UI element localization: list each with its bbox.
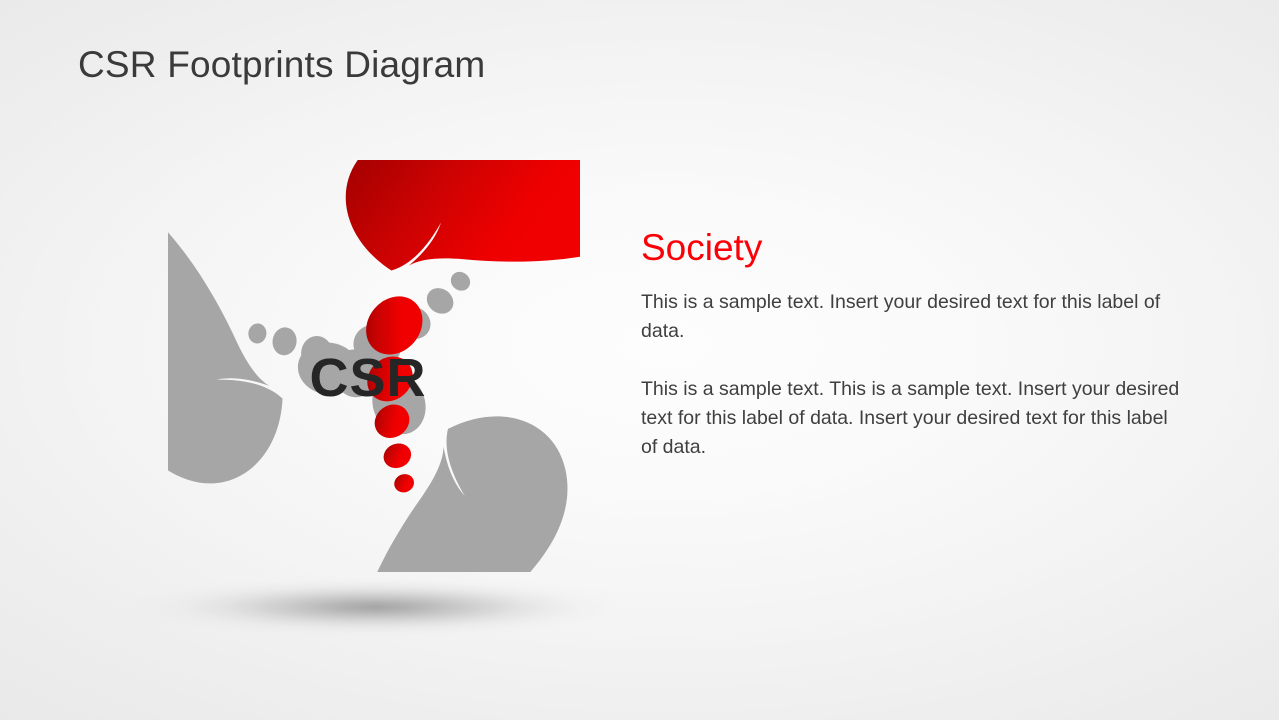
description-panel: Society This is a sample text. Insert yo… <box>641 228 1186 462</box>
panel-heading: Society <box>641 228 1186 267</box>
slide-canvas: CSR Footprints Diagram <box>0 0 1279 720</box>
page-title: CSR Footprints Diagram <box>78 44 485 86</box>
panel-paragraph-1: This is a sample text. Insert your desir… <box>641 288 1186 346</box>
panel-paragraph-2: This is a sample text. This is a sample … <box>641 375 1186 462</box>
csr-footprints-diagram: CSR <box>168 160 580 572</box>
footprints-svg <box>168 160 580 572</box>
ground-shadow <box>128 578 624 636</box>
